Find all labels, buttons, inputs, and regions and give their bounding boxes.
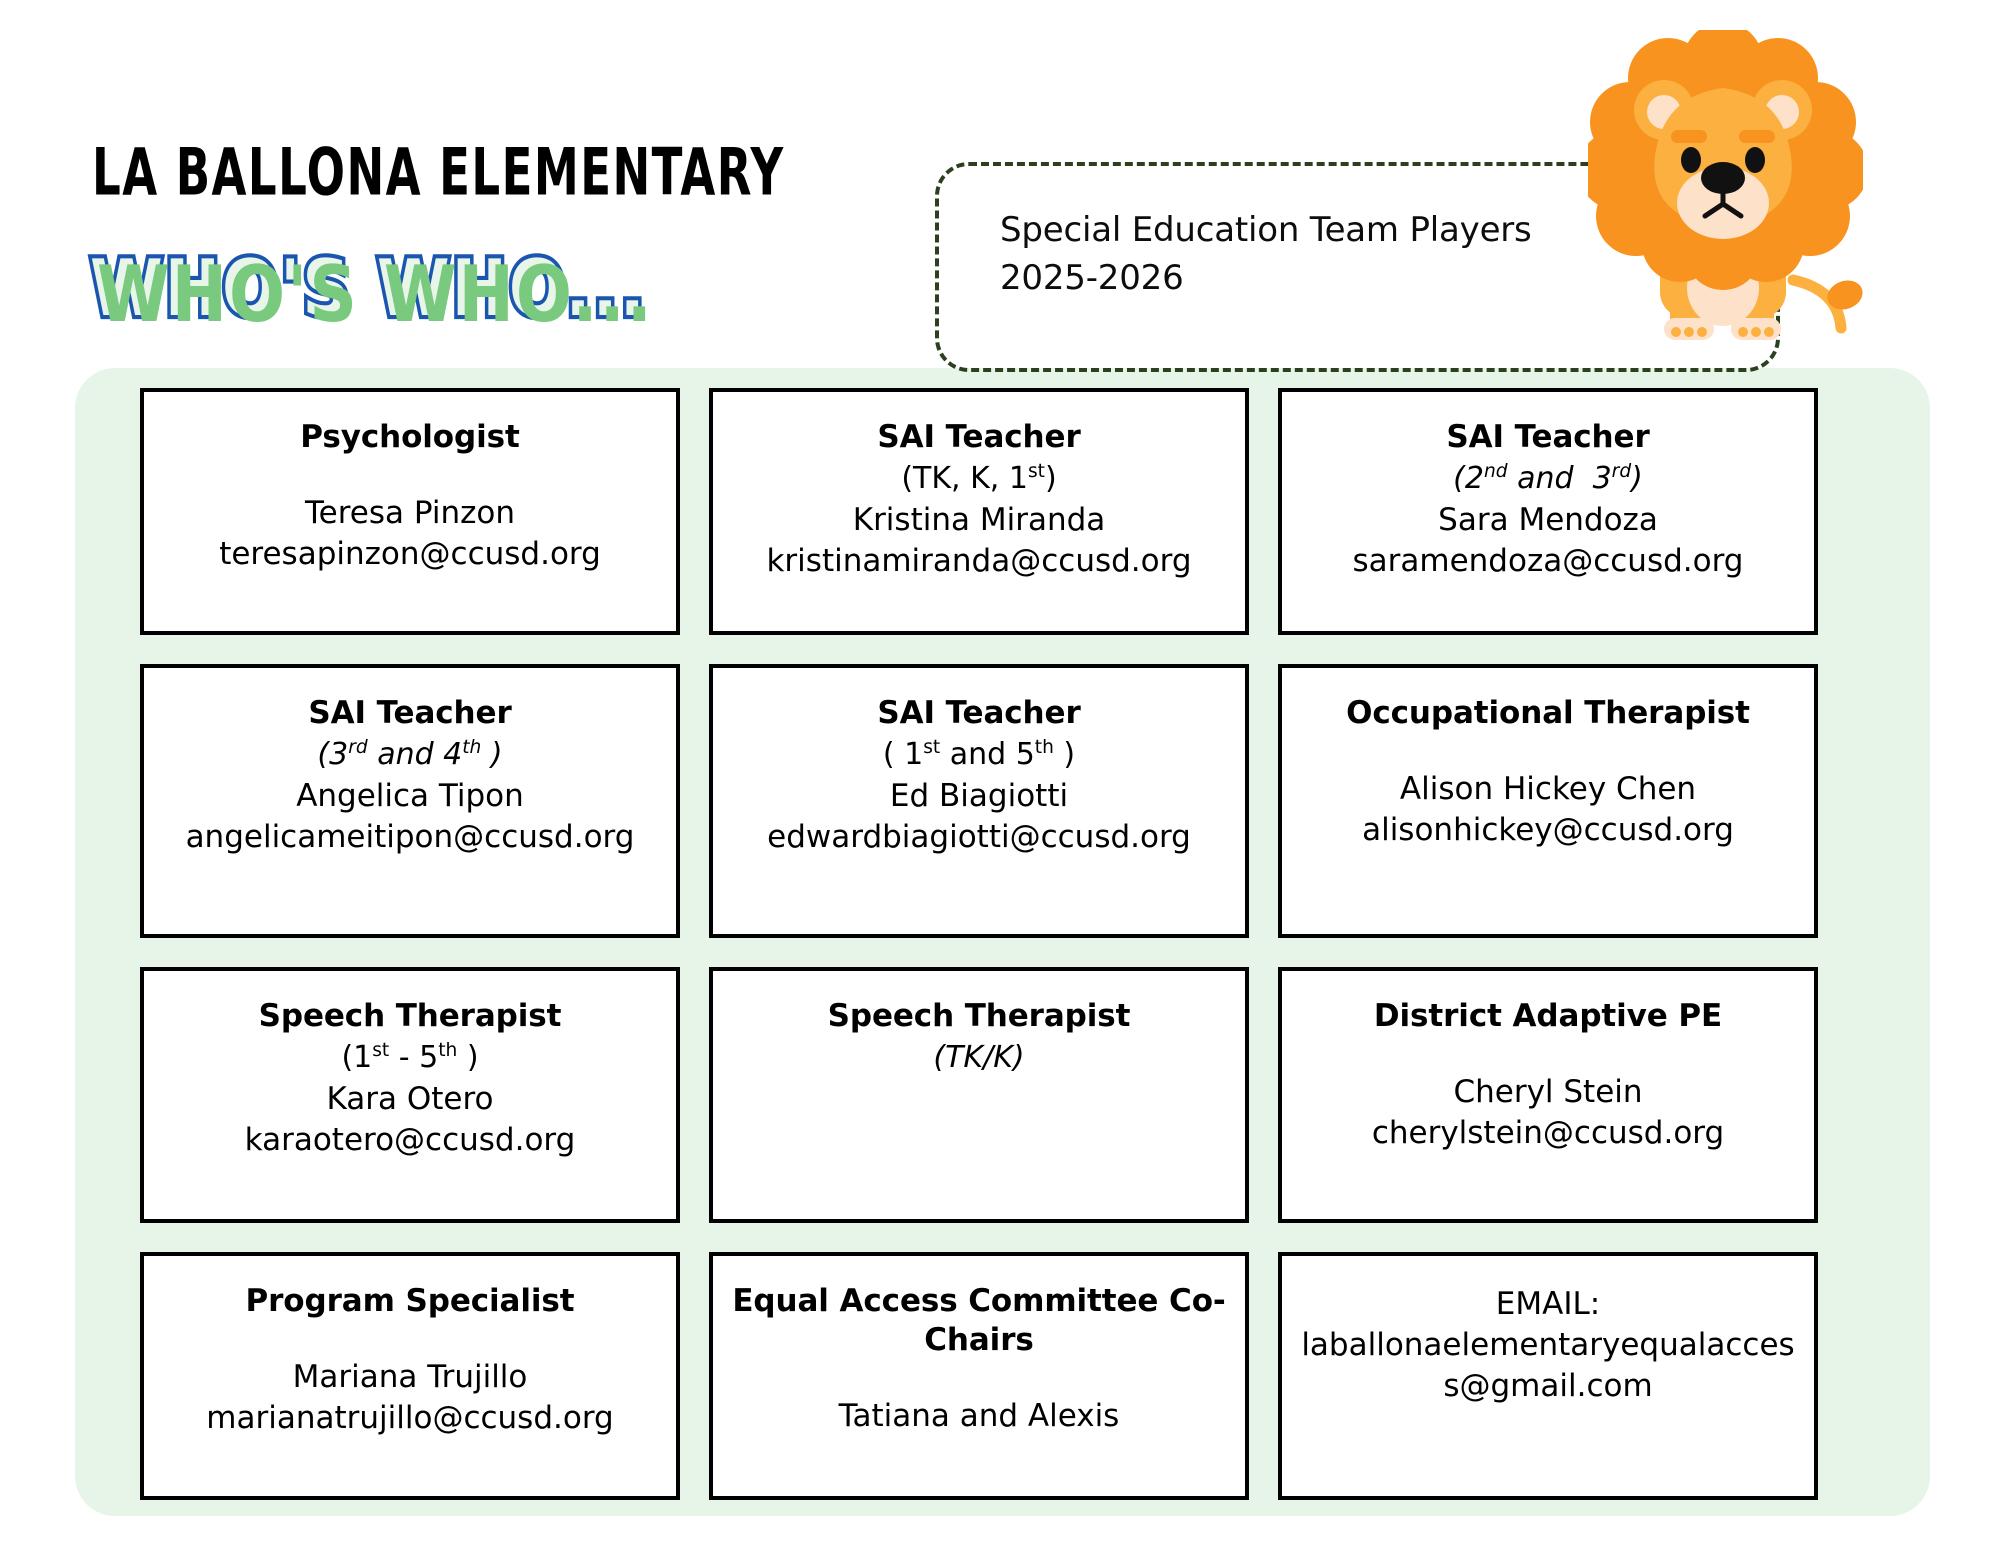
staff-card-role: SAI Teacher [877,694,1080,733]
staff-card-role: District Adaptive PE [1374,997,1722,1036]
staff-card-email[interactable]: angelicameitipon@ccusd.org [186,817,635,858]
whos-who-heading-fill: WHO'S WHO... [97,249,654,340]
staff-card: EMAIL:laballonaelementaryequalaccess@gma… [1278,1252,1818,1500]
staff-card-role: Occupational Therapist [1346,694,1750,733]
staff-card-email[interactable]: saramendoza@ccusd.org [1353,541,1744,582]
staff-card-role: SAI Teacher [877,418,1080,457]
staff-card-name: Kristina Miranda [853,500,1106,541]
staff-card-email[interactable]: kristinamiranda@ccusd.org [766,541,1191,582]
staff-card: Speech Therapist(TK/K) [709,967,1249,1223]
staff-card-name: Sara Mendoza [1438,500,1658,541]
staff-card-name: Kara Otero [326,1079,493,1120]
staff-card-name: Ed Biagiotti [890,776,1068,817]
staff-card-role: Speech Therapist [828,997,1131,1036]
staff-card-grades: (TK, K, 1st) [901,459,1056,498]
whos-who-heading: WHO'S WHO... WHO'S WHO... [90,243,710,333]
staff-card: SAI Teacher(TK, K, 1st)Kristina Mirandak… [709,388,1249,635]
speech-bubble-line-2: 2025-2026 [1000,254,1640,302]
staff-card-role: Equal Access Committee Co-Chairs [727,1282,1231,1360]
staff-card-role: Psychologist [300,418,519,457]
staff-card: SAI Teacher(3rd and 4th )Angelica Tipona… [140,664,680,938]
staff-card: Program SpecialistMariana Trujillomarian… [140,1252,680,1500]
staff-card-name: Teresa Pinzon [305,493,515,534]
staff-card: PsychologistTeresa Pinzonteresapinzon@cc… [140,388,680,635]
staff-card-email[interactable]: alisonhickey@ccusd.org [1362,810,1734,851]
staff-card-name: Alison Hickey Chen [1400,769,1696,810]
staff-card-role: SAI Teacher [1446,418,1649,457]
staff-card-role: Program Specialist [246,1282,575,1321]
staff-card-role: Speech Therapist [259,997,562,1036]
staff-card-email[interactable]: edwardbiagiotti@ccusd.org [767,817,1191,858]
staff-card-grades: (1st - 5th ) [341,1038,478,1077]
staff-card-email[interactable]: cherylstein@ccusd.org [1372,1113,1724,1154]
staff-card-email[interactable]: teresapinzon@ccusd.org [219,534,601,575]
staff-card-grid: PsychologistTeresa Pinzonteresapinzon@cc… [140,388,1866,1498]
staff-card: SAI Teacher(2nd and 3rd)Sara Mendozasara… [1278,388,1818,635]
staff-card-name: Tatiana and Alexis [839,1396,1120,1437]
staff-card: District Adaptive PECheryl Steincherylst… [1278,967,1818,1223]
staff-card-name: EMAIL: [1496,1284,1600,1325]
speech-bubble-text: Special Education Team Players 2025-2026 [1000,206,1640,303]
staff-card-grades: ( 1st and 5th ) [883,735,1075,774]
staff-card-grades: (TK/K) [933,1038,1024,1077]
staff-card-grades: (3rd and 4th ) [317,735,502,774]
staff-card-email[interactable]: laballonaelementaryequalaccess@gmail.com [1296,1325,1800,1407]
speech-bubble-line-1: Special Education Team Players [1000,206,1640,254]
staff-card: Equal Access Committee Co-ChairsTatiana … [709,1252,1249,1500]
staff-card-email[interactable]: marianatrujillo@ccusd.org [206,1398,613,1439]
staff-card-name: Angelica Tipon [296,776,524,817]
staff-card: Speech Therapist(1st - 5th )Kara Oteroka… [140,967,680,1223]
staff-card-role: SAI Teacher [308,694,511,733]
page-title: LA BALLONA ELEMENTARY [92,135,785,211]
staff-card-grades: (2nd and 3rd) [1453,459,1643,498]
staff-card-name: Mariana Trujillo [293,1357,528,1398]
staff-card: Occupational TherapistAlison Hickey Chen… [1278,664,1818,938]
poster-page: LA BALLONA ELEMENTARY WHO'S WHO... WHO'S… [0,0,2000,1545]
staff-card-name: Cheryl Stein [1453,1072,1642,1113]
staff-card-email[interactable]: karaotero@ccusd.org [245,1120,576,1161]
staff-card: SAI Teacher( 1st and 5th )Ed Biagiottied… [709,664,1249,938]
